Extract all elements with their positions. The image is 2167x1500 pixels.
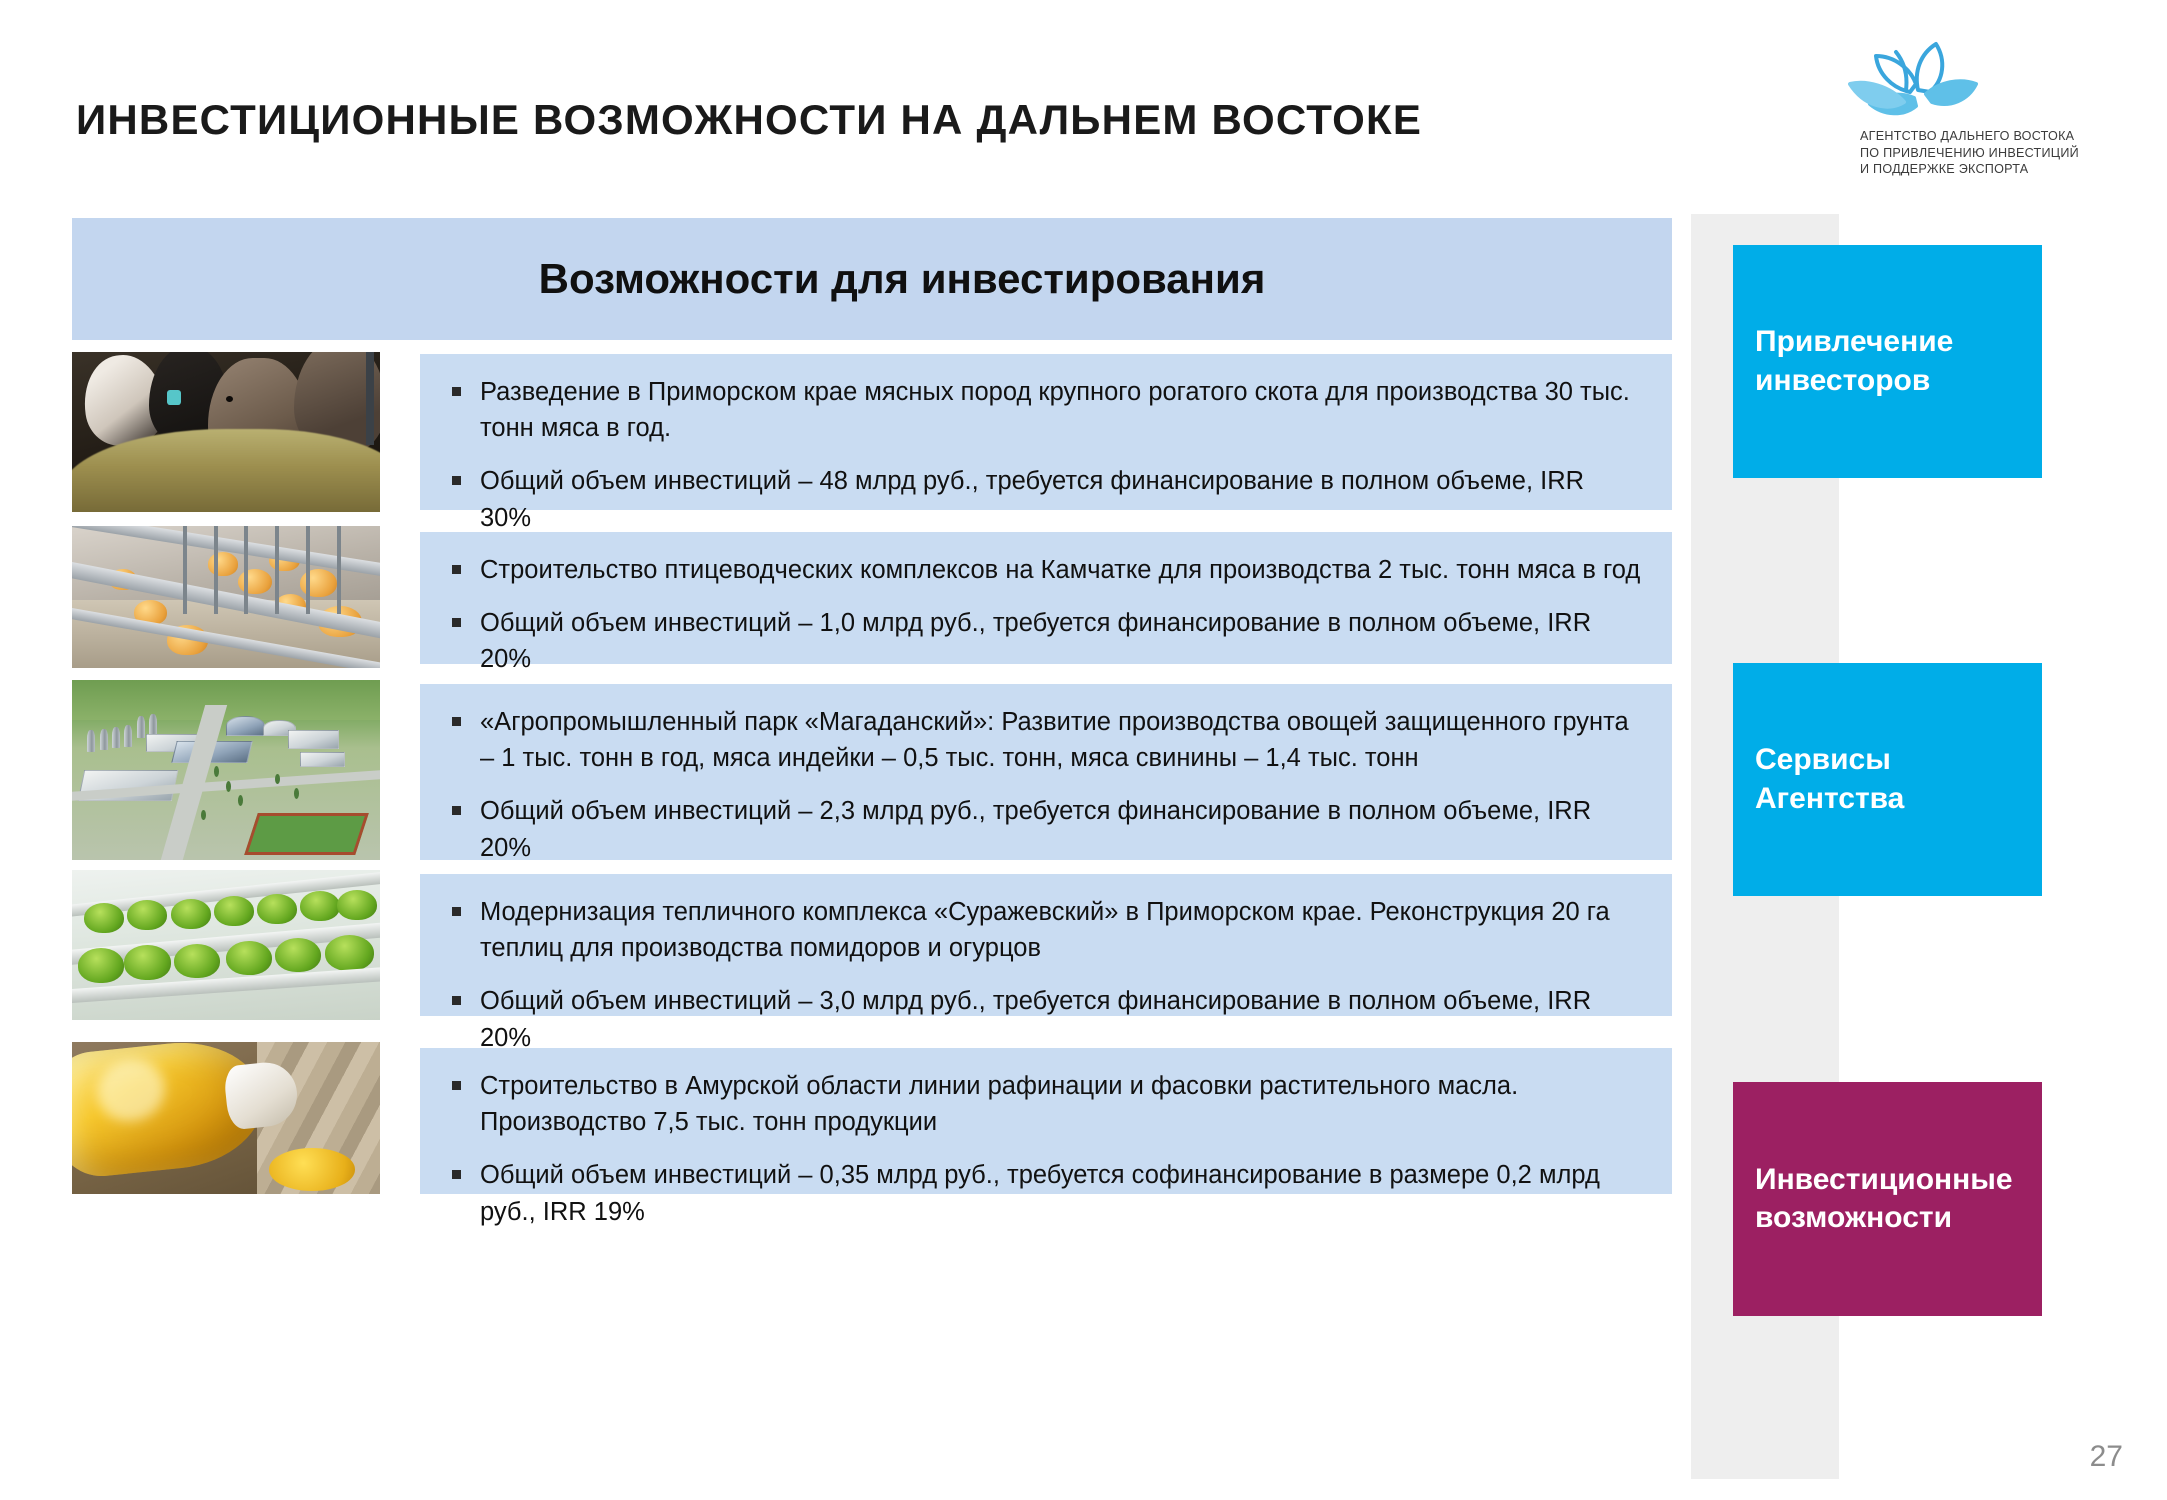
- sidebar-item-label: Инвестиционные возможности: [1755, 1161, 2020, 1238]
- cattle-feeding-photo: [72, 352, 380, 512]
- project-bullets: Строительство птицеводческих комплексов …: [446, 552, 1642, 678]
- bullet-item: Разведение в Приморском крае мясных поро…: [446, 374, 1642, 446]
- project-bullets: «Агропромышленный парк «Магаданский»: Ра…: [446, 704, 1642, 866]
- bullet-item: Общий объем инвестиций – 3,0 млрд руб., …: [446, 983, 1642, 1055]
- bullet-item: Общий объем инвестиций – 1,0 млрд руб., …: [446, 605, 1642, 677]
- greenhouse-hydroponics-photo: [72, 870, 380, 1020]
- logo-caption: АГЕНТСТВО ДАЛЬНЕГО ВОСТОКА ПО ПРИВЛЕЧЕНИ…: [1860, 128, 2079, 178]
- sidebar-item-label: Привлечение инвесторов: [1755, 323, 2020, 400]
- bullet-item: Строительство птицеводческих комплексов …: [446, 552, 1642, 588]
- logo-line-1: АГЕНТСТВО ДАЛЬНЕГО ВОСТОКА: [1860, 128, 2079, 145]
- project-text: Разведение в Приморском крае мясных поро…: [420, 354, 1672, 510]
- project-bullets: Разведение в Приморском крае мясных поро…: [446, 374, 1642, 536]
- project-text: Строительство в Амурской области линии р…: [420, 1048, 1672, 1194]
- bullet-item: Общий объем инвестиций – 48 млрд руб., т…: [446, 463, 1642, 535]
- logo-line-2: ПО ПРИВЛЕЧЕНИЮ ИНВЕСТИЦИЙ: [1860, 145, 2079, 162]
- sidebar-item-investment-opportunities[interactable]: Инвестиционные возможности: [1733, 1082, 2042, 1316]
- logo-line-3: И ПОДДЕРЖКЕ ЭКСПОРТА: [1860, 161, 2079, 178]
- sidebar-item-label: Сервисы Агентства: [1755, 741, 2020, 818]
- agency-logo: АГЕНТСТВО ДАЛЬНЕГО ВОСТОКА ПО ПРИВЛЕЧЕНИ…: [1838, 40, 2138, 180]
- sidebar-item-attract-investors[interactable]: Привлечение инвесторов: [1733, 245, 2042, 478]
- bullet-item: Модернизация тепличного комплекса «Сураж…: [446, 894, 1642, 966]
- project-text: Строительство птицеводческих комплексов …: [420, 532, 1672, 664]
- vegetable-oil-bottle-photo: [72, 1042, 380, 1194]
- project-text: «Агропромышленный парк «Магаданский»: Ра…: [420, 684, 1672, 860]
- bullet-item: Строительство в Амурской области линии р…: [446, 1068, 1642, 1140]
- sidebar-item-agency-services[interactable]: Сервисы Агентства: [1733, 663, 2042, 896]
- project-bullets: Модернизация тепличного комплекса «Сураж…: [446, 894, 1642, 1056]
- poultry-chicks-photo: [72, 526, 380, 668]
- page-number: 27: [2090, 1440, 2123, 1474]
- bullet-item: Общий объем инвестиций – 2,3 млрд руб., …: [446, 793, 1642, 865]
- project-bullets: Строительство в Амурской области линии р…: [446, 1068, 1642, 1230]
- section-banner: Возможности для инвестирования: [72, 218, 1672, 340]
- agro-industrial-park-photo: [72, 680, 380, 860]
- project-text: Модернизация тепличного комплекса «Сураж…: [420, 874, 1672, 1016]
- bullet-item: Общий объем инвестиций – 0,35 млрд руб.,…: [446, 1157, 1642, 1229]
- bullet-item: «Агропромышленный парк «Магаданский»: Ра…: [446, 704, 1642, 776]
- page-title: ИНВЕСТИЦИОННЫЕ ВОЗМОЖНОСТИ НА ДАЛЬНЕМ ВО…: [76, 96, 1422, 144]
- lotus-flower-icon: [1848, 40, 1993, 122]
- section-banner-heading: Возможности для инвестирования: [72, 255, 1672, 303]
